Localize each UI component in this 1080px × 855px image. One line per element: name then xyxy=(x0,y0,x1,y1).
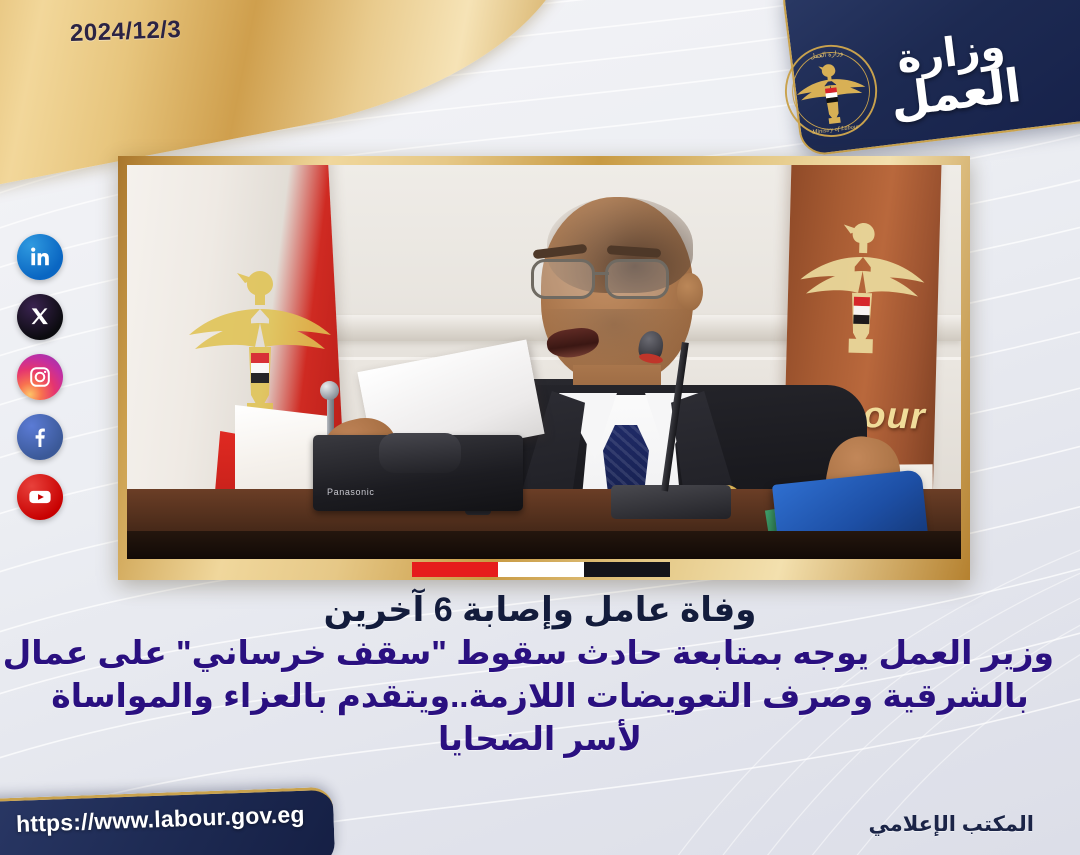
desk-front-edge xyxy=(127,531,961,559)
phone-handset xyxy=(379,433,461,473)
eagle-of-saladin-emblem: وزارة العمل Ministry of Labour xyxy=(778,37,885,144)
egypt-flag-strip xyxy=(412,562,670,577)
flag-band-white xyxy=(498,562,584,577)
x-twitter-icon[interactable] xyxy=(17,294,63,340)
linkedin-icon[interactable] xyxy=(17,234,63,280)
microphone-base xyxy=(611,485,731,519)
flag-band-black xyxy=(584,562,670,577)
headline-line-2: وزير العمل يوجه بمتابعة حادث سقوط "سقف خ… xyxy=(26,632,1054,675)
headline-block: وفاة عامل وإصابة 6 آخرين وزير العمل يوجه… xyxy=(0,588,1080,761)
instagram-icon[interactable] xyxy=(17,354,63,400)
ministry-name-line2: العمل xyxy=(888,64,1023,123)
ministry-logo-content: وزارة العمل Ministry of Labour وزارة الع… xyxy=(762,0,1078,170)
ministry-name-arabic: وزارة العمل xyxy=(884,26,1024,123)
desk-flag-finial xyxy=(320,381,339,400)
headline-line-1: وفاة عامل وإصابة 6 آخرين xyxy=(26,588,1054,632)
headline-line-4: لأسر الضحايا xyxy=(26,718,1054,761)
svg-text:وزارة العمل: وزارة العمل xyxy=(810,49,844,61)
glasses-bridge xyxy=(593,272,609,275)
minister-photo: Labour xyxy=(127,165,961,559)
lens-right xyxy=(605,259,669,299)
photo-gold-frame: Labour xyxy=(118,156,970,580)
headline-line-3: بالشرقية وصرف التعويضات اللازمة..ويتقدم … xyxy=(26,675,1054,718)
youtube-icon[interactable] xyxy=(17,474,63,520)
eyeglasses xyxy=(531,259,707,301)
lens-left xyxy=(531,259,595,299)
publish-date: 2024/12/3 xyxy=(70,16,182,48)
facebook-icon[interactable] xyxy=(17,414,63,460)
announcement-poster: 2024/12/3 xyxy=(0,0,1080,855)
flag-band-red xyxy=(412,562,498,577)
media-office-label: المكتب الإعلامي xyxy=(868,812,1034,837)
social-links-rail xyxy=(17,234,63,520)
svg-text:Ministry of Labour: Ministry of Labour xyxy=(811,123,861,136)
phone-brand-label: Panasonic xyxy=(327,487,374,497)
